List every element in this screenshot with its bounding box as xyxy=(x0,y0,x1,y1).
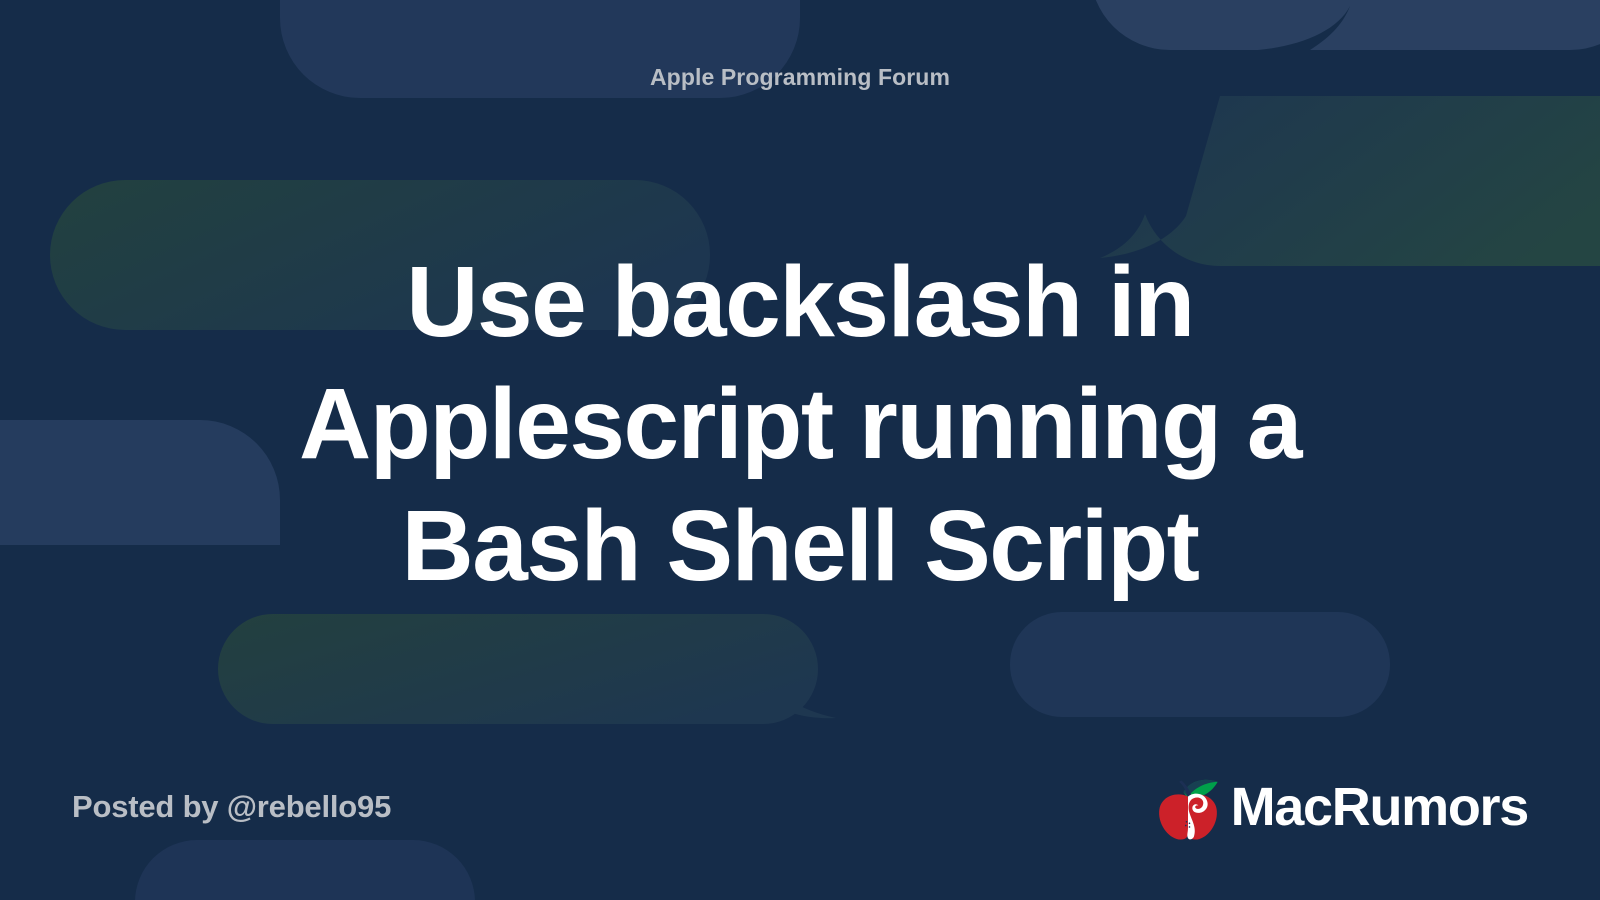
macrumors-apple-logo-icon xyxy=(1151,770,1225,844)
title-container: Use backslash in Applescript running a B… xyxy=(72,78,1528,770)
card-footer: Posted by @rebello95 xyxy=(72,770,1528,844)
author-byline: Posted by @rebello95 xyxy=(72,789,391,825)
macrumors-wordmark: MacRumors xyxy=(1231,780,1528,834)
page-title: Use backslash in Applescript running a B… xyxy=(255,241,1345,607)
og-share-card: Apple Programming Forum Use backslash in… xyxy=(0,0,1600,900)
card-content: Apple Programming Forum Use backslash in… xyxy=(0,0,1600,900)
macrumors-brand: MacRumors xyxy=(1151,770,1528,844)
